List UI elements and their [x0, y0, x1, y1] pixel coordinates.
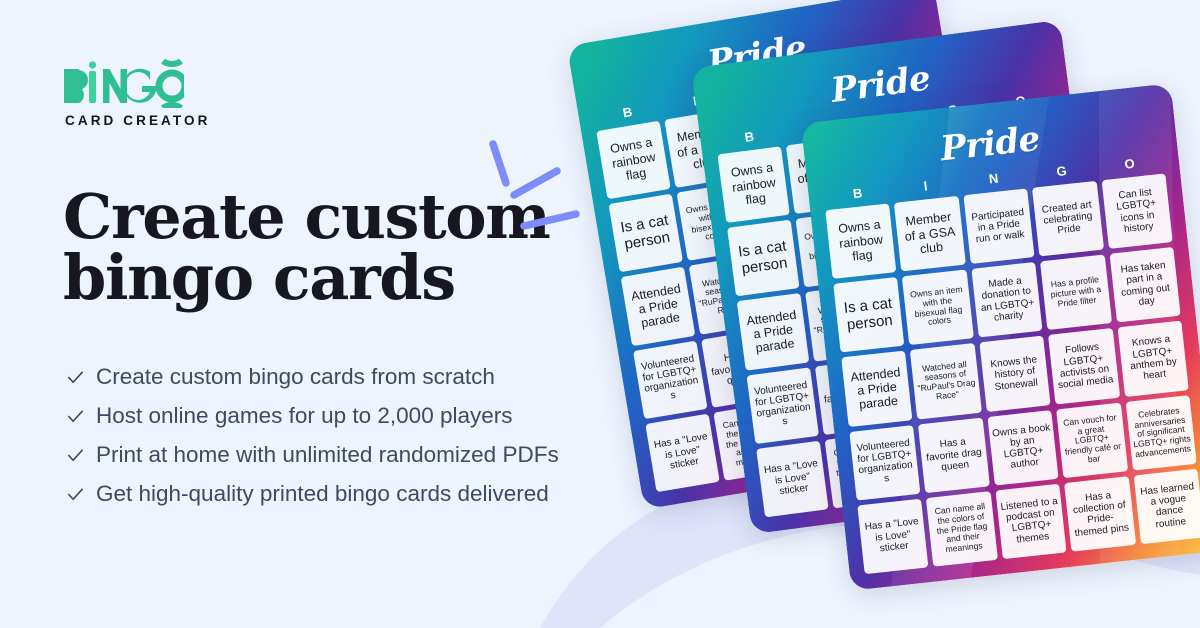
bingo-cell[interactable]: Has learned a vogue dance routine: [1133, 468, 1200, 544]
bingo-cell[interactable]: Attended a Pride parade: [841, 351, 912, 427]
bingo-cell[interactable]: Has a favorite drag queen: [918, 417, 990, 493]
bingo-logo-icon: [62, 58, 184, 108]
logo[interactable]: CARD CREATOR: [62, 58, 210, 128]
bingo-cell[interactable]: Knows the history of Stonewall: [979, 336, 1050, 412]
check-icon: [66, 485, 85, 504]
bingo-cell[interactable]: Is a cat person: [833, 277, 904, 353]
bingo-cell[interactable]: Knows a LGBTQ+ anthem by heart: [1117, 321, 1189, 397]
bingo-card-front[interactable]: Pride B I N G O Owns a rainbow flagMembe…: [801, 83, 1200, 590]
sparkle-icon: [484, 138, 584, 233]
logo-subtitle: CARD CREATOR: [65, 113, 210, 128]
check-icon: [66, 446, 85, 465]
bingo-cell[interactable]: Has a "Love is Love" sticker: [756, 440, 829, 517]
bingo-cell[interactable]: Owns an item with the bisexual flag colo…: [902, 270, 974, 346]
hero-left-column: CARD CREATOR Create custom bingo cards C…: [62, 0, 662, 628]
bingo-cell[interactable]: Participated in a Pride run or walk: [963, 188, 1034, 264]
bingo-cell[interactable]: Can list LGBTQ+ icons in history: [1101, 173, 1173, 249]
bingo-cell[interactable]: Is a cat person: [727, 220, 800, 297]
bingo-grid: Owns a rainbow flagMember of a GSA clubP…: [825, 173, 1200, 574]
bingo-cell[interactable]: Has a profile picture with a Pride filte…: [1040, 255, 1112, 331]
list-item: Print at home with unlimited randomized …: [66, 436, 666, 475]
column-header-g: G: [1027, 160, 1097, 182]
bingo-cell[interactable]: Can name all the colors of the Pride fla…: [926, 491, 998, 567]
list-item-label: Get high-quality printed bingo cards del…: [96, 483, 549, 506]
bingo-cell[interactable]: Watched all seasons of "RuPaul's Drag Ra…: [910, 343, 982, 419]
list-item: Host online games for up to 2,000 player…: [66, 397, 666, 436]
check-icon: [66, 368, 85, 387]
column-header-b: B: [823, 182, 893, 204]
bingo-cell[interactable]: Owns a rainbow flag: [825, 203, 896, 279]
list-item: Create custom bingo cards from scratch: [66, 358, 666, 397]
bingo-cell[interactable]: Volunteered for LGBTQ+ organizations: [849, 425, 920, 501]
bingo-cell[interactable]: Has taken part in a coming out day: [1109, 247, 1181, 323]
feature-list: Create custom bingo cards from scratch H…: [66, 358, 666, 514]
list-item-label: Create custom bingo cards from scratch: [96, 366, 495, 389]
bingo-cell[interactable]: Created art celebrating Pride: [1032, 181, 1104, 257]
column-header-b: B: [715, 125, 785, 149]
headline-line-2: bingo cards: [63, 241, 455, 314]
bingo-cell[interactable]: Has a "Love is Love" sticker: [857, 498, 928, 574]
bingo-cell[interactable]: Owns a rainbow flag: [717, 146, 790, 223]
list-item-label: Host online games for up to 2,000 player…: [96, 405, 513, 428]
check-icon: [66, 407, 85, 426]
bingo-cell[interactable]: Attended a Pride parade: [737, 293, 810, 370]
list-item-label: Print at home with unlimited randomized …: [96, 444, 559, 467]
bingo-cell[interactable]: Celebrates anniversaries of significant …: [1125, 395, 1197, 471]
column-header-i: I: [891, 175, 961, 197]
bingo-cell[interactable]: Can vouch for a great LGBTQ+ friendly ca…: [1056, 402, 1128, 478]
bingo-cell[interactable]: Has a collection of Pride-themed pins: [1064, 476, 1136, 552]
bingo-cell[interactable]: Made a donation to an LGBTQ+ charity: [971, 262, 1042, 338]
bingo-cell[interactable]: Follows LGBTQ+ activists on social media: [1048, 328, 1120, 404]
list-item: Get high-quality printed bingo cards del…: [66, 475, 666, 514]
column-header-o: O: [1095, 153, 1165, 175]
bingo-cell[interactable]: Owns a book by an LGBTQ+ author: [987, 410, 1058, 486]
sparkle-decoration: [484, 138, 584, 238]
bingo-cell[interactable]: Volunteered for LGBTQ+ organizations: [746, 367, 819, 444]
bingo-cell[interactable]: Listened to a podcast on LGBTQ+ themes: [995, 483, 1066, 559]
bingo-cell[interactable]: Member of a GSA club: [894, 196, 966, 272]
column-header-n: N: [959, 167, 1029, 189]
